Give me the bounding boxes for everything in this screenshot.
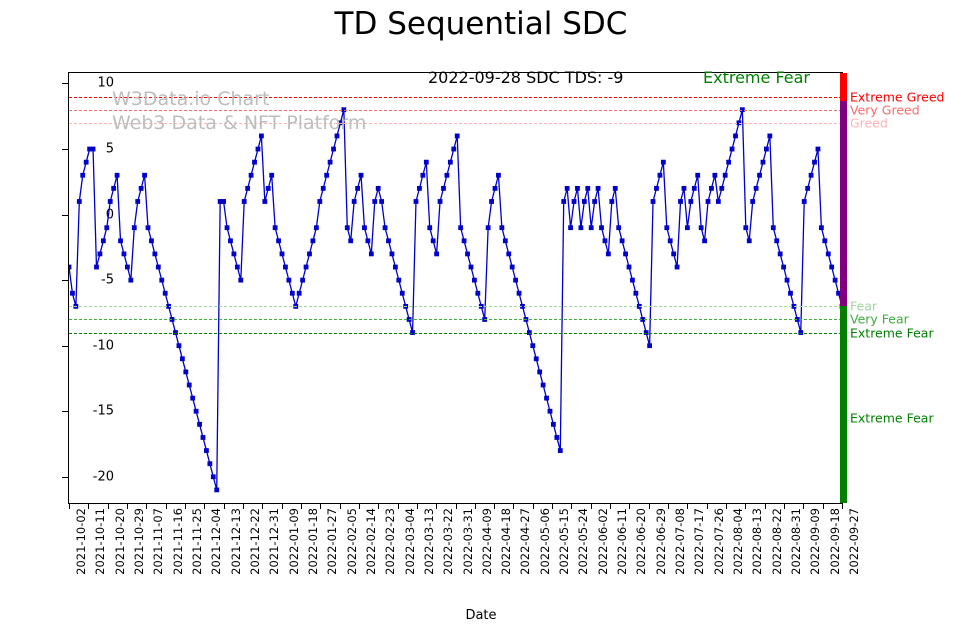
series-point (685, 225, 690, 230)
series-point (159, 278, 164, 283)
x-tick-mark (146, 504, 147, 509)
series-point (774, 238, 779, 243)
series-point (530, 343, 535, 348)
x-tick-mark (243, 504, 244, 509)
series-point (214, 487, 219, 492)
x-tick-mark (436, 504, 437, 509)
series-point (314, 225, 319, 230)
series-point (331, 147, 336, 152)
series-point (183, 370, 188, 375)
series-point (266, 186, 271, 191)
x-tick-label: 2022-09-18 (828, 508, 842, 575)
series-point (544, 396, 549, 401)
series-point (554, 435, 559, 440)
series-point (548, 409, 553, 414)
x-tick-mark (185, 504, 186, 509)
series-point (609, 199, 614, 204)
x-tick-mark (475, 504, 476, 509)
threshold-line-extreme-fear (69, 333, 842, 334)
series-point (596, 186, 601, 191)
series-point (201, 435, 206, 440)
series-point (414, 199, 419, 204)
series-point (541, 383, 546, 388)
x-tick-mark (88, 504, 89, 509)
x-tick-label: 2022-08-04 (731, 508, 745, 575)
series-point (754, 186, 759, 191)
series-point (561, 199, 566, 204)
series-point (613, 186, 618, 191)
series-point (451, 147, 456, 152)
series-point (372, 199, 377, 204)
series-point (317, 199, 322, 204)
x-tick-mark (69, 504, 70, 509)
series-point (128, 278, 133, 283)
series-point (822, 238, 827, 243)
series-point (194, 409, 199, 414)
series-point (812, 160, 817, 165)
x-tick-label: 2021-11-25 (190, 508, 204, 575)
x-tick-label: 2022-02-05 (345, 508, 359, 575)
series-point (496, 173, 501, 178)
series-point (187, 383, 192, 388)
series-point (259, 134, 264, 139)
series-point (592, 199, 597, 204)
series-point (300, 278, 305, 283)
series-point (91, 147, 96, 152)
x-tick-mark (726, 504, 727, 509)
series-point (802, 199, 807, 204)
x-tick-mark (784, 504, 785, 509)
series-point (651, 199, 656, 204)
series-point (551, 422, 556, 427)
series-point (767, 134, 772, 139)
series-point (80, 173, 85, 178)
x-tick-label: 2022-03-13 (422, 508, 436, 575)
series-point (682, 186, 687, 191)
x-tick-label: 2021-10-11 (93, 508, 107, 575)
series-point (726, 160, 731, 165)
series-point (324, 173, 329, 178)
current-reading-annotation: 2022-09-28 SDC TDS: -9 (428, 68, 623, 87)
series-point (273, 225, 278, 230)
x-tick-mark (533, 504, 534, 509)
series-point (118, 238, 123, 243)
series-point (290, 291, 295, 296)
x-tick-label: 2022-01-27 (325, 508, 339, 575)
colorbar-label-extreme-fear: Extreme Fear (850, 410, 934, 425)
x-tick-mark (745, 504, 746, 509)
series-point (510, 265, 515, 270)
series-point (101, 238, 106, 243)
current-mood-annotation: Extreme Fear (703, 68, 810, 87)
series-point (94, 265, 99, 270)
colorbar-segment-2 (840, 306, 847, 503)
series-point (69, 265, 71, 270)
x-tick-label: 2022-06-29 (654, 508, 668, 575)
x-tick-mark (456, 504, 457, 509)
x-tick-mark (668, 504, 669, 509)
x-tick-mark (320, 504, 321, 509)
series-point (747, 238, 752, 243)
series-point (819, 225, 824, 230)
series-point (606, 252, 611, 257)
x-tick-label: 2022-09-09 (808, 508, 822, 575)
series-line (69, 110, 842, 490)
series-point (252, 160, 257, 165)
series-point (207, 461, 212, 466)
x-tick-label: 2022-03-04 (403, 508, 417, 575)
series-point (668, 238, 673, 243)
series-point (603, 238, 608, 243)
series-point (630, 278, 635, 283)
series-point (149, 238, 154, 243)
series-point (589, 225, 594, 230)
series-point (238, 278, 243, 283)
series-point (304, 265, 309, 270)
series-point (108, 199, 113, 204)
series-point (486, 225, 491, 230)
series-point (280, 252, 285, 257)
series-point (664, 225, 669, 230)
series-point (211, 474, 216, 479)
series-point (276, 238, 281, 243)
series-point (431, 238, 436, 243)
x-tick-mark (591, 504, 592, 509)
series-point (579, 225, 584, 230)
series-point (262, 199, 267, 204)
series-point (445, 173, 450, 178)
series-point (585, 186, 590, 191)
series-point (826, 252, 831, 257)
x-tick-label: 2022-04-27 (518, 508, 532, 575)
threshold-label-extreme-fear: Extreme Fear (850, 325, 934, 340)
series-point (328, 160, 333, 165)
series-point (177, 343, 182, 348)
series-point (469, 265, 474, 270)
series-point (788, 291, 793, 296)
series-point (379, 199, 384, 204)
x-tick-label: 2022-05-24 (576, 508, 590, 575)
series-point (582, 199, 587, 204)
series-point (829, 265, 834, 270)
threshold-line-very-fear (69, 319, 842, 320)
x-tick-label: 2021-10-29 (132, 508, 146, 575)
series-point (757, 173, 762, 178)
series-point (517, 291, 522, 296)
series-point (232, 252, 237, 257)
series-point (716, 199, 721, 204)
series-point (489, 199, 494, 204)
x-tick-mark (494, 504, 495, 509)
series-point (365, 238, 370, 243)
series-point (558, 448, 563, 453)
series-point (424, 160, 429, 165)
x-tick-label: 2022-06-11 (615, 508, 629, 575)
series-point (537, 370, 542, 375)
series-point (805, 186, 810, 191)
series-point (455, 134, 460, 139)
series-point (427, 225, 432, 230)
series-point (499, 225, 504, 230)
x-tick-mark (127, 504, 128, 509)
x-tick-label: 2022-04-09 (480, 508, 494, 575)
series-point (833, 278, 838, 283)
series-point (441, 186, 446, 191)
series-point (104, 225, 109, 230)
series-point (599, 225, 604, 230)
series-point (352, 199, 357, 204)
series-point (623, 252, 628, 257)
series-point (163, 291, 168, 296)
series-point (695, 173, 700, 178)
colorbar-segment-0 (840, 73, 847, 101)
series-point (475, 291, 480, 296)
series-point (616, 225, 621, 230)
series-point (197, 422, 202, 427)
series-point (465, 252, 470, 257)
x-tick-mark (629, 504, 630, 509)
series-point (678, 199, 683, 204)
x-tick-label: 2022-01-18 (306, 508, 320, 575)
series-point (661, 160, 666, 165)
series-point (286, 278, 291, 283)
x-tick-label: 2021-10-02 (74, 508, 88, 575)
series-point (386, 238, 391, 243)
series-point (256, 147, 261, 152)
series-point (750, 199, 755, 204)
series-point (458, 225, 463, 230)
series-point (135, 199, 140, 204)
series-point (369, 252, 374, 257)
x-tick-mark (803, 504, 804, 509)
x-tick-label: 2022-02-23 (383, 508, 397, 575)
series-point (125, 265, 130, 270)
x-tick-mark (224, 504, 225, 509)
x-tick-mark (687, 504, 688, 509)
series-point (383, 225, 388, 230)
series-point (115, 173, 120, 178)
x-tick-label: 2022-02-14 (364, 508, 378, 575)
series-point (70, 291, 75, 296)
series-point (204, 448, 209, 453)
x-tick-label: 2022-05-06 (538, 508, 552, 575)
series-point (472, 278, 477, 283)
series-point (572, 199, 577, 204)
watermark-brand: W3Data.io Chart (112, 88, 269, 110)
x-tick-mark (166, 504, 167, 509)
plot-inner (69, 73, 842, 503)
series-point (706, 199, 711, 204)
x-tick-label: 2022-07-17 (692, 508, 706, 575)
series-point (462, 238, 467, 243)
x-tick-mark (282, 504, 283, 509)
series-point (816, 147, 821, 152)
x-tick-label: 2021-11-07 (151, 508, 165, 575)
x-tick-mark (842, 504, 843, 509)
series-point (658, 173, 663, 178)
x-tick-mark (108, 504, 109, 509)
series-point (575, 186, 580, 191)
series-point (809, 173, 814, 178)
series-point (493, 186, 498, 191)
colorbar-segment-1 (840, 101, 847, 307)
series-point (190, 396, 195, 401)
x-tick-mark (378, 504, 379, 509)
x-tick-mark (765, 504, 766, 509)
x-tick-label: 2022-08-22 (770, 508, 784, 575)
series-point (348, 238, 353, 243)
series-point (785, 278, 790, 283)
x-tick-label: 2021-10-20 (113, 508, 127, 575)
series-point (77, 199, 82, 204)
series-point (568, 225, 573, 230)
x-tick-label: 2021-12-04 (209, 508, 223, 575)
threshold-label-greed: Greed (850, 115, 888, 130)
series-point (781, 265, 786, 270)
plot-area (68, 72, 843, 504)
series-point (771, 225, 776, 230)
series-point (376, 186, 381, 191)
series-point (506, 252, 511, 257)
x-tick-mark (417, 504, 418, 509)
series-point (132, 225, 137, 230)
series-point (420, 173, 425, 178)
series-point (534, 356, 539, 361)
x-tick-label: 2021-12-13 (229, 508, 243, 575)
series-point (633, 291, 638, 296)
x-tick-mark (301, 504, 302, 509)
series-point (761, 160, 766, 165)
series-point (719, 186, 724, 191)
x-tick-label: 2022-08-13 (750, 508, 764, 575)
series-point (297, 291, 302, 296)
series-point (417, 186, 422, 191)
series-point (647, 343, 652, 348)
x-tick-label: 2022-07-08 (673, 508, 687, 575)
series-point (764, 147, 769, 152)
series-point (400, 291, 405, 296)
series-point (702, 238, 707, 243)
series-point (359, 173, 364, 178)
x-tick-label: 2022-04-18 (499, 508, 513, 575)
series-point (335, 134, 340, 139)
x-tick-mark (262, 504, 263, 509)
series-point (390, 252, 395, 257)
series-point (249, 173, 254, 178)
series-point (709, 186, 714, 191)
series-point (654, 186, 659, 191)
series-point (699, 225, 704, 230)
series-point (345, 225, 350, 230)
series-point (84, 160, 89, 165)
series-point (221, 199, 226, 204)
x-tick-label: 2022-05-15 (557, 508, 571, 575)
x-tick-label: 2022-09-27 (847, 508, 861, 575)
series-point (723, 173, 728, 178)
series-point (245, 186, 250, 191)
x-tick-mark (204, 504, 205, 509)
series-point (778, 252, 783, 257)
series-point (139, 186, 144, 191)
series-point (513, 278, 518, 283)
series-point (627, 265, 632, 270)
series-point (565, 186, 570, 191)
series-point (142, 173, 147, 178)
series-point (156, 265, 161, 270)
x-tick-label: 2022-08-31 (789, 508, 803, 575)
x-tick-mark (649, 504, 650, 509)
series-point (393, 265, 398, 270)
series-point (122, 252, 127, 257)
x-tick-mark (340, 504, 341, 509)
x-tick-label: 2022-07-26 (712, 508, 726, 575)
series-point (733, 134, 738, 139)
series-point (180, 356, 185, 361)
series-point (503, 238, 508, 243)
tds-series (69, 73, 842, 503)
series-point (355, 186, 360, 191)
series-point (283, 265, 288, 270)
x-tick-label: 2022-03-22 (441, 508, 455, 575)
series-point (730, 147, 735, 152)
series-point (225, 225, 230, 230)
threshold-line-fear (69, 306, 842, 307)
x-tick-label: 2021-11-16 (171, 508, 185, 575)
series-point (98, 252, 103, 257)
x-tick-mark (398, 504, 399, 509)
x-axis-label: Date (0, 608, 962, 623)
x-tick-label: 2021-12-31 (267, 508, 281, 575)
watermark-tagline: Web3 Data & NFT Platform (112, 112, 366, 134)
series-point (228, 238, 233, 243)
x-tick-label: 2021-12-22 (248, 508, 262, 575)
x-tick-label: 2022-03-31 (461, 508, 475, 575)
series-point (712, 173, 717, 178)
x-tick-mark (610, 504, 611, 509)
series-point (111, 186, 116, 191)
x-tick-label: 2022-01-09 (287, 508, 301, 575)
series-point (743, 225, 748, 230)
x-tick-label: 2022-06-20 (634, 508, 648, 575)
series-point (235, 265, 240, 270)
series-point (269, 173, 274, 178)
series-point (146, 225, 151, 230)
series-point (242, 199, 247, 204)
series-point (311, 238, 316, 243)
series-point (620, 238, 625, 243)
series-point (152, 252, 157, 257)
series-point (448, 160, 453, 165)
x-tick-mark (571, 504, 572, 509)
series-point (675, 265, 680, 270)
x-tick-mark (359, 504, 360, 509)
series-point (434, 252, 439, 257)
x-tick-mark (552, 504, 553, 509)
page-title: TD Sequential SDC (0, 6, 962, 42)
chart-page: TD Sequential SDC SDC TDS 1050-5-10-15-2… (0, 0, 962, 633)
series-point (307, 252, 312, 257)
series-point (671, 252, 676, 257)
series-point (362, 225, 367, 230)
series-point (438, 199, 443, 204)
series-point (688, 199, 693, 204)
series-point (692, 186, 697, 191)
x-tick-mark (707, 504, 708, 509)
x-tick-mark (513, 504, 514, 509)
x-tick-label: 2022-06-02 (596, 508, 610, 575)
series-point (321, 186, 326, 191)
x-tick-mark (823, 504, 824, 509)
